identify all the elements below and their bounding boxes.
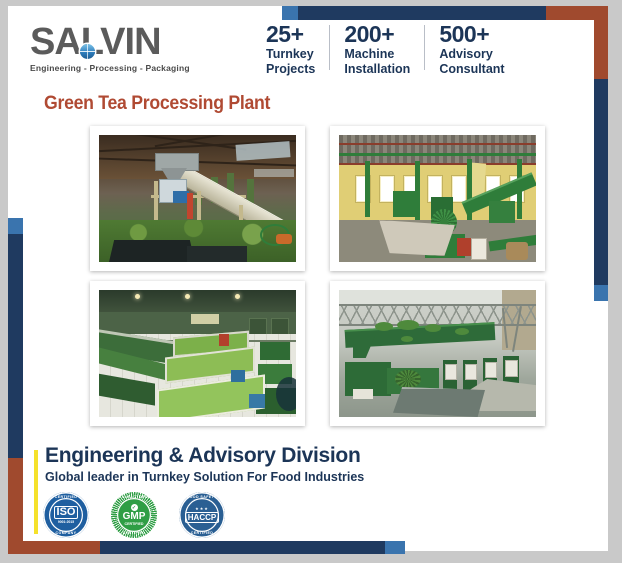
stat-number: 200+ [344,22,410,47]
frame-bar-right-light-blue [594,285,608,301]
check-icon: ✓ [131,504,138,511]
gmp-badge-sub: CERTIFIED [125,522,144,526]
stat-item-machine-installation: 200+ Machine Installation [330,22,424,76]
stat-label-line2: Projects [266,62,315,77]
brand-logo: SALVIN Engineering - Processing - Packag… [30,22,220,73]
gmp-badge: MANUFACTURING CERTIFIED ✓ GMP CERTIFIED [111,492,157,538]
stat-label-line2: Installation [344,62,410,77]
stat-item-turnkey-projects: 25+ Turnkey Projects [262,22,329,76]
stat-number: 25+ [266,22,315,47]
stat-item-advisory-consultant: 500+ Advisory Consultant [425,22,518,76]
photo-factory-hall-machines [339,135,536,262]
frame-bar-top-navy [298,6,546,20]
stat-label-line1: Turnkey [266,47,315,62]
footer-title: Engineering & Advisory Division [45,444,360,468]
iso-badge: CERTIFIED COMPANY ISO 9001:2015 [43,492,89,538]
haccp-badge-code: HACCP [185,512,219,523]
frame-bar-bottom-navy [100,541,385,554]
frame-bar-right-navy [594,79,608,285]
stat-label-line1: Advisory [439,47,504,62]
stars-icon: ★★★ [195,507,209,511]
photo-card-3 [90,281,305,426]
globe-icon [80,44,95,59]
photo-card-4 [330,281,545,426]
footer-subtitle: Global leader in Turnkey Solution For Fo… [45,470,364,484]
photo-card-2 [330,126,545,271]
page-title: Green Tea Processing Plant [44,93,270,115]
frame-bar-left-navy [8,234,23,458]
frame-bar-left-rust [8,458,23,545]
stat-label-line1: Machine [344,47,410,62]
footer-accent-bar [34,450,38,534]
slide-canvas: SALVIN Engineering - Processing - Packag… [0,0,622,563]
iso-badge-code: ISO [54,506,79,519]
logo-wordmark: SALVIN [30,22,220,62]
stat-number: 500+ [439,22,504,47]
stats-strip: 25+ Turnkey Projects 200+ Machine Instal… [262,22,519,76]
haccp-badge: FOOD SAFETY SYSTEM CERTIFIED ★★★ HACCP [179,492,225,538]
frame-bar-top-light-blue [282,6,298,20]
frame-bar-bottom-light-blue [385,541,405,554]
frame-bar-left-light-blue [8,218,23,234]
frame-bar-right-rust [594,6,608,79]
stat-label-line2: Consultant [439,62,504,77]
iso-badge-sub: 9001:2015 [58,520,74,524]
logo-tagline: Engineering - Processing - Packaging [30,63,220,73]
gmp-badge-code: GMP [123,512,146,522]
photo-rolling-machines [339,290,536,417]
certification-badges: CERTIFIED COMPANY ISO 9001:2015 MANUFACT… [43,492,225,538]
photo-processing-lines-hall [99,290,296,417]
photo-card-1 [90,126,305,271]
photo-green-tea-conveyor [99,135,296,262]
frame-bar-bottom-rust [8,541,100,554]
